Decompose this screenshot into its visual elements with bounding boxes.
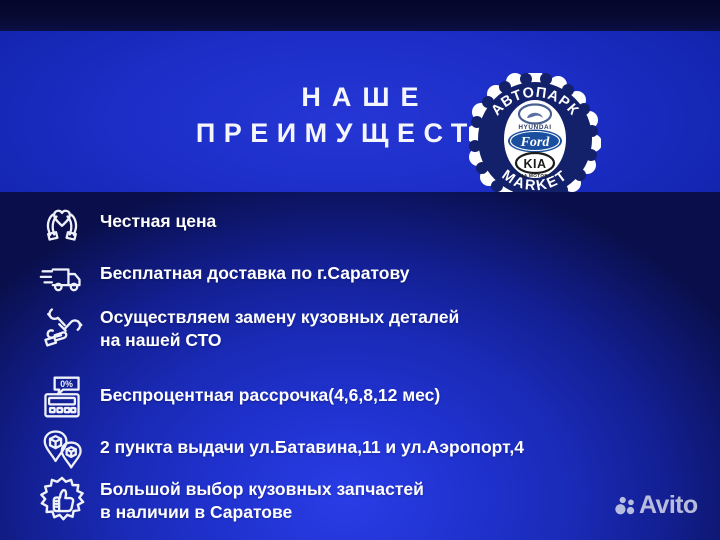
kia-subtext: KIA MOTORS (518, 173, 551, 178)
page-title: НАШЕ ПРЕИМУЩЕСТВО (0, 83, 720, 148)
feature-label: 2 пункта выдачи ул.Батавина,11 и ул.Аэро… (90, 426, 524, 459)
feature-item-large-selection: Большой выбор кузовных запчастей в налич… (34, 476, 424, 525)
ford-wordmark: Ford (520, 135, 551, 150)
feature-label: Беспроцентная рассрочка(4,6,8,12 мес) (90, 374, 440, 407)
delivery-truck-icon (34, 252, 90, 298)
feature-item-honest-price: Честная цена (34, 200, 216, 246)
map-pins-boxes-icon (34, 426, 90, 472)
avtopark-market-logo: АВТОПАРК MARKET HYUNDAI (469, 73, 601, 192)
avito-label: Avito (639, 493, 698, 518)
ford-logo: Ford (508, 130, 562, 153)
top-dark-band (0, 0, 720, 31)
thumbs-up-badge-icon (34, 476, 90, 524)
avito-watermark: Avito (614, 493, 698, 518)
hand-wrench-icon (34, 304, 90, 350)
feature-label: Честная цена (90, 200, 216, 233)
feature-item-free-delivery: Бесплатная доставка по г.Саратову (34, 252, 410, 298)
hands-heart-icon (34, 200, 90, 246)
calculator-percent-icon: 0% (34, 374, 90, 420)
feature-item-pickup-points: 2 пункта выдачи ул.Батавина,11 и ул.Аэро… (34, 426, 524, 472)
feature-label: Бесплатная доставка по г.Саратову (90, 252, 410, 285)
feature-label: Осуществляем замену кузовных деталей на … (90, 304, 459, 353)
promo-banner: НАШЕ ПРЕИМУЩЕСТВО (0, 0, 720, 540)
svg-text:0%: 0% (60, 379, 73, 389)
feature-item-installment: 0% Беспроцентная рассрочка(4,6,8,12 мес) (34, 374, 440, 420)
feature-label: Большой выбор кузовных запчастей в налич… (90, 476, 424, 525)
title-line-2: ПРЕИМУЩЕСТВО (0, 119, 720, 148)
title-line-1: НАШЕ (0, 83, 720, 112)
header-section: НАШЕ ПРЕИМУЩЕСТВО (0, 31, 720, 192)
features-section: Честная цена Бесплатная доставка по г.Са… (0, 192, 720, 540)
avito-dots-icon (614, 495, 636, 517)
feature-item-body-repair: Осуществляем замену кузовных деталей на … (34, 304, 459, 353)
kia-wordmark: KIA (523, 157, 546, 171)
